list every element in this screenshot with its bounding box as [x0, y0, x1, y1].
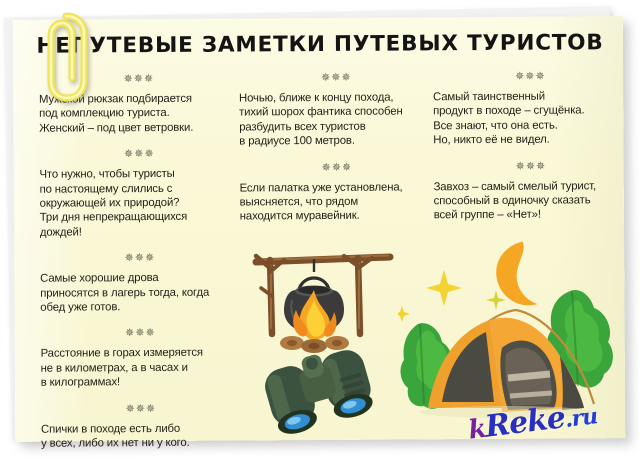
note-text: Самые хорошие дрова приносятся в лагерь … [40, 271, 240, 315]
note-block: ✵✵✵ Что нужно, чтобы туристы по настояще… [39, 148, 240, 240]
note-block: ✵✵✵ Самый таинственный продукт в походе … [433, 70, 628, 148]
note-block: ✵✵✵ Завхоз – самый смелый турист, способ… [433, 160, 628, 223]
note-block: ✵✵✵ Спички в походе есть либо у всех, ли… [41, 402, 241, 451]
note-text: Если палатка уже установлена, выясняется… [240, 180, 435, 224]
separator-asterisks: ✵✵✵ [41, 402, 241, 415]
separator-asterisks: ✵✵✵ [40, 327, 240, 340]
note-text: Ночью, ближе к концу похода, тихий шорох… [239, 90, 434, 149]
note-block: ✵✵✵ Ночью, ближе к концу похода, тихий ш… [239, 71, 434, 149]
paperclip-icon [36, 6, 92, 104]
notes-column-1: ✵✵✵ Мужской рюкзак подбирается под компл… [39, 72, 241, 464]
separator-asterisks: ✵✵✵ [433, 70, 628, 83]
separator-asterisks: ✵✵✵ [239, 71, 434, 84]
note-block: ✵✵✵ Если палатка уже установлена, выясня… [239, 161, 434, 224]
separator-asterisks: ✵✵✵ [239, 161, 434, 174]
note-text: Самый таинственный продукт в походе – сг… [433, 89, 628, 148]
page-title: НЕПУТЕВЫЕ ЗАМЕТКИ ПУТЕВЫХ ТУРИСТОВ [0, 30, 640, 59]
note-block: ✵✵✵ Самые хорошие дрова приносятся в лаг… [40, 252, 240, 315]
notes-column-3: ✵✵✵ Самый таинственный продукт в походе … [433, 70, 629, 236]
notes-columns: ✵✵✵ Мужской рюкзак подбирается под компл… [0, 70, 640, 454]
poster-canvas: НЕПУТЕВЫЕ ЗАМЕТКИ ПУТЕВЫХ ТУРИСТОВ ✵✵✵ М… [0, 0, 640, 460]
note-text: Завхоз – самый смелый турист, способный … [434, 179, 629, 223]
notes-column-2: ✵✵✵ Ночью, ближе к концу похода, тихий ш… [239, 71, 435, 237]
note-text: Спички в походе есть либо у всех, либо и… [41, 421, 241, 451]
separator-asterisks: ✵✵✵ [39, 148, 239, 161]
note-block: ✵✵✵ Расстояние в горах измеряется не в к… [40, 327, 240, 390]
separator-asterisks: ✵✵✵ [433, 160, 628, 173]
watermark-suffix: .ru [563, 403, 598, 433]
separator-asterisks: ✵✵✵ [40, 252, 240, 265]
note-text: Расстояние в горах измеряется не в килом… [41, 346, 241, 390]
note-text: Что нужно, чтобы туристы по настоящему с… [39, 167, 239, 240]
